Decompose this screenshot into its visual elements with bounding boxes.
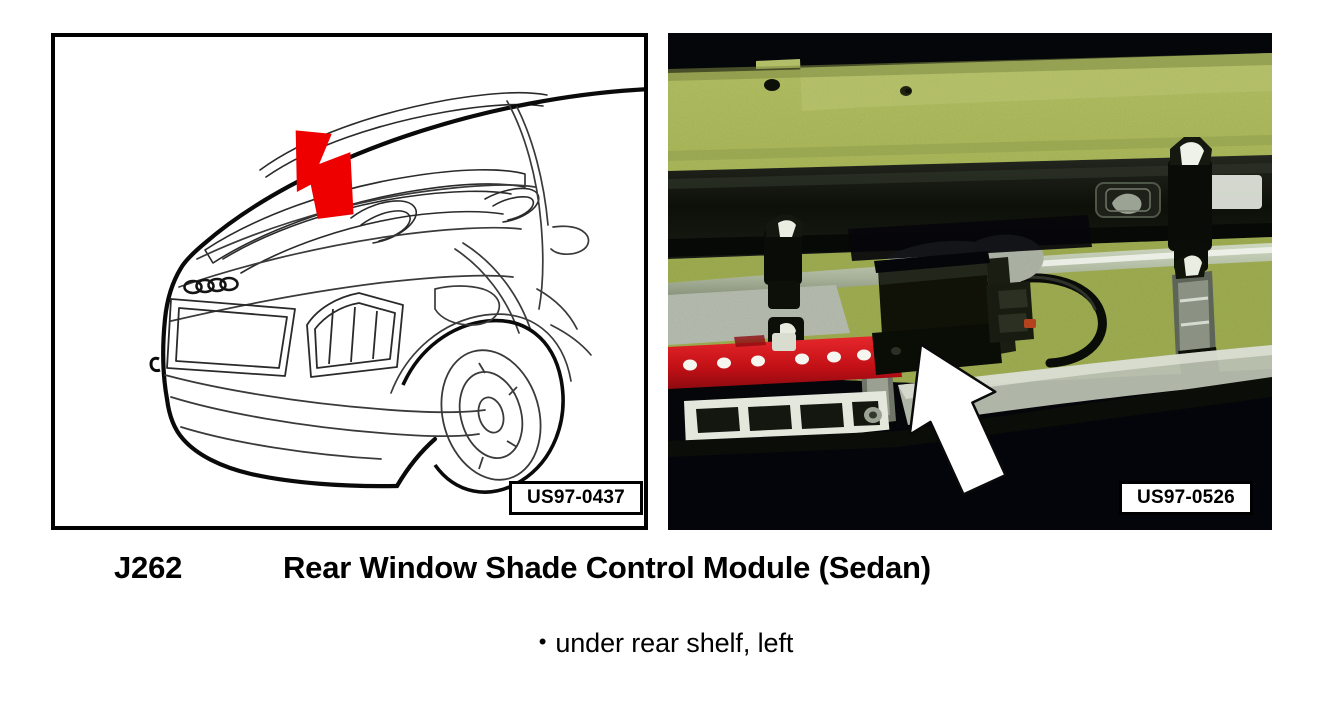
component-title: Rear Window Shade Control Module (Sedan) — [283, 550, 931, 586]
sedan-rear-illustration — [55, 37, 644, 526]
illustration-panel: US97-0437 — [51, 33, 648, 530]
photo-panel: US97-0526 — [668, 33, 1272, 530]
note-text: under rear shelf, left — [555, 628, 793, 658]
retaining-clip-left — [764, 215, 804, 309]
rear-shelf-photograph — [668, 33, 1272, 530]
illustration-id-plaque: US97-0437 — [509, 481, 643, 515]
component-code: J262 — [114, 550, 182, 586]
figure-row: US97-0437 — [0, 0, 1332, 540]
bullet-icon: • — [539, 629, 547, 655]
note-list: •under rear shelf, left — [0, 628, 1332, 659]
caption-block: J262 Rear Window Shade Control Module (S… — [0, 540, 1332, 716]
retaining-clip-right — [1168, 137, 1212, 271]
photo-id-plaque: US97-0526 — [1119, 481, 1253, 515]
note-item: •under rear shelf, left — [539, 628, 794, 659]
